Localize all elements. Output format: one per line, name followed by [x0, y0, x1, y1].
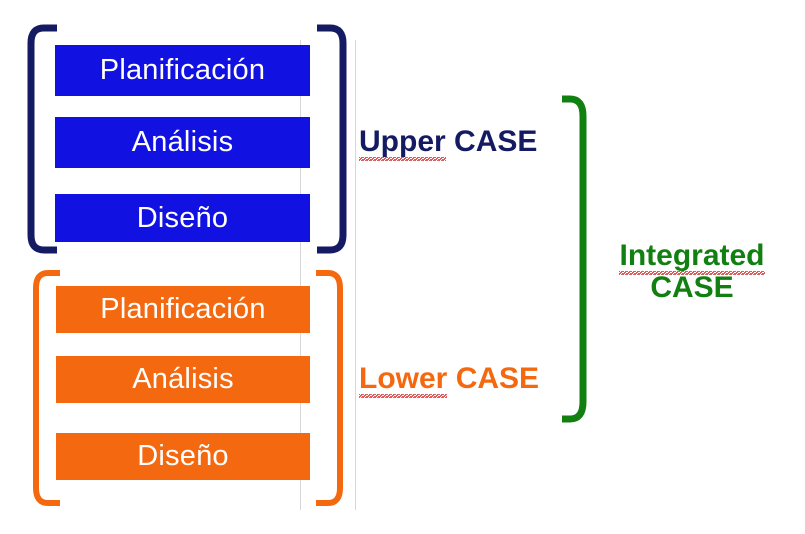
integrated-case-label-line1: Integrated: [612, 240, 772, 272]
upper-bar-diseno[interactable]: Diseño: [55, 194, 310, 242]
upper-case-label-squiggle-text: Upper: [359, 126, 446, 158]
upper-bar-planificacion[interactable]: Planificación: [55, 45, 310, 96]
upper-bar-analisis[interactable]: Análisis: [55, 117, 310, 168]
lower-bar-analisis[interactable]: Análisis: [56, 356, 310, 403]
integrated-case-label-line2: CASE: [612, 272, 772, 304]
integrated-case-label: Integrated CASE: [612, 240, 772, 305]
lower-bracket-right-icon: [312, 268, 346, 508]
lower-case-label-plain-text: CASE: [447, 362, 539, 395]
integrated-bracket-icon: [556, 94, 590, 424]
integrated-case-label-line1-text: Integrated: [619, 240, 764, 272]
guide-line-outer: [355, 40, 356, 510]
upper-case-label-plain-text: CASE: [446, 125, 538, 158]
diagram-canvas: Planificación Análisis Diseño Upper CASE…: [0, 0, 805, 534]
lower-case-label-squiggle-text: Lower: [359, 363, 447, 395]
lower-bar-diseno[interactable]: Diseño: [56, 433, 310, 480]
upper-bracket-right-icon: [314, 24, 348, 254]
lower-case-label: Lower CASE: [359, 363, 539, 395]
upper-case-label: Upper CASE: [359, 126, 537, 158]
lower-bar-planificacion[interactable]: Planificación: [56, 286, 310, 333]
